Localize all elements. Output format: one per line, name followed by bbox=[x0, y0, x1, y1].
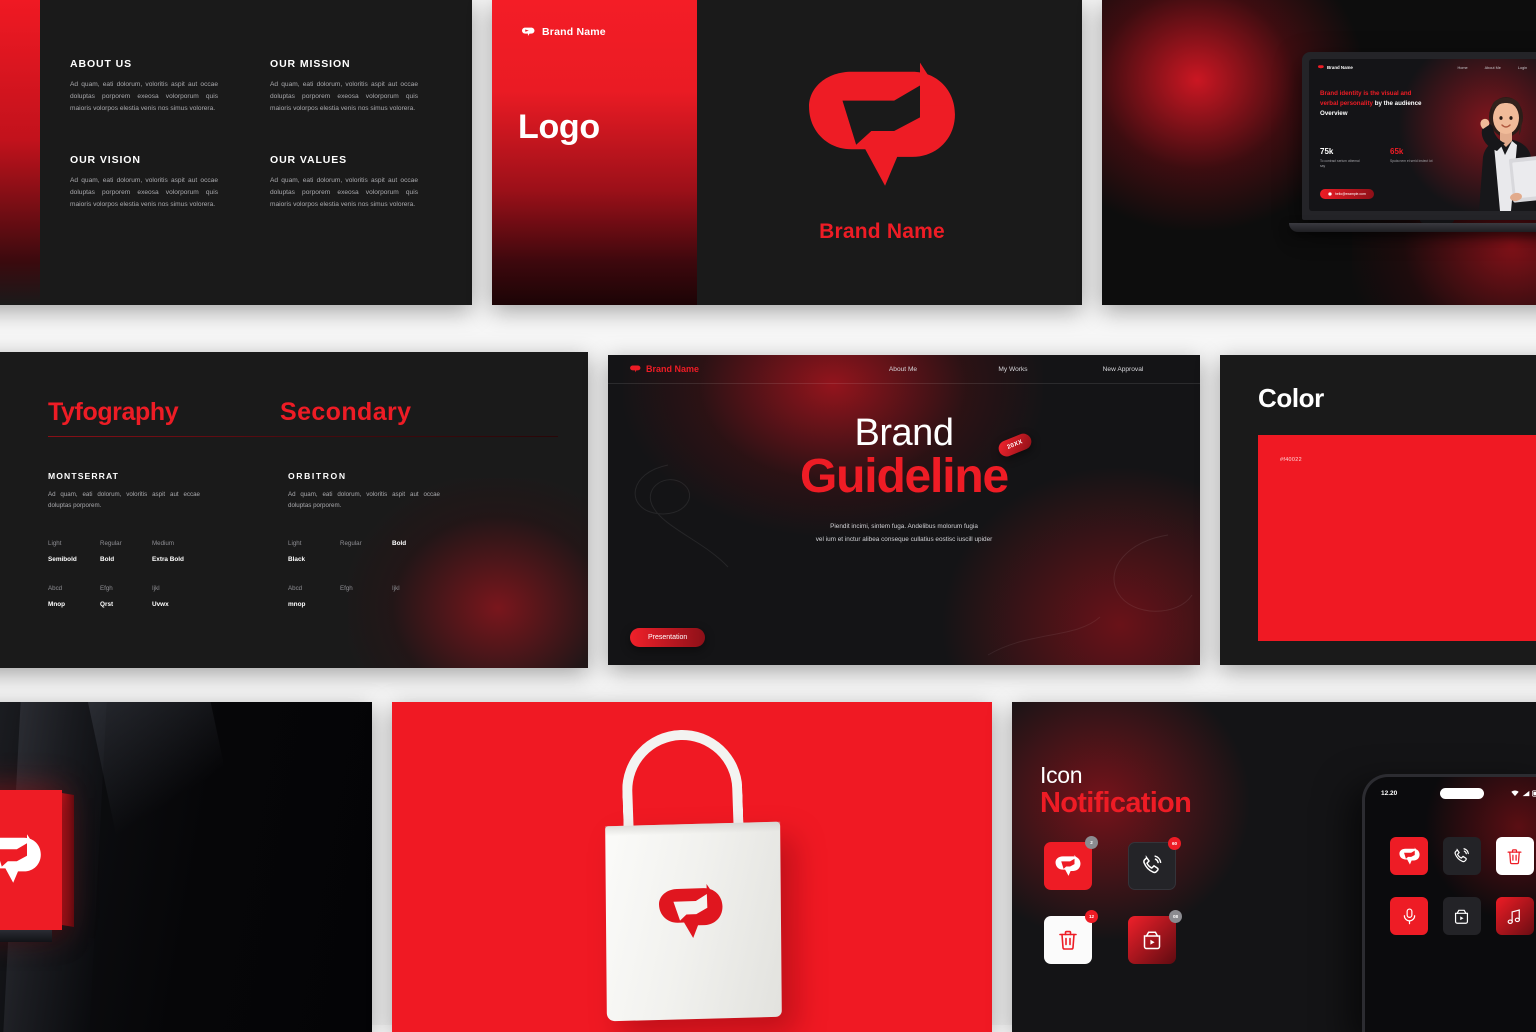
about-blocks-grid: ABOUT US Ad quam, eati dolorum, voloriti… bbox=[70, 58, 438, 211]
laptop-screen: Brand Name Home About Me Login Sign In B… bbox=[1309, 59, 1536, 211]
hero-nav-links: About Me My Works New Approval bbox=[848, 366, 1178, 373]
trash-delete-icon bbox=[1056, 928, 1080, 952]
notification-badge: 12 bbox=[1085, 910, 1098, 923]
font-alphabet-grid: Abcd Efgh Ijkl mnop bbox=[288, 585, 444, 608]
status-time: 12.20 bbox=[1381, 790, 1397, 797]
block-title: OUR VISION bbox=[70, 154, 238, 166]
font-weight: Bold bbox=[392, 540, 444, 547]
trash-delete-icon bbox=[1505, 847, 1524, 866]
font-weight: Semibold bbox=[48, 556, 100, 563]
laptop-device: Brand Name Home About Me Login Sign In B… bbox=[1302, 52, 1536, 232]
battery-icon bbox=[1532, 790, 1536, 797]
alphabet-sample: Abcd bbox=[288, 585, 340, 592]
hero-subtitle: Piendit incimi, sintem fuga. Andelibus m… bbox=[608, 521, 1200, 546]
notification-badge: 08 bbox=[1169, 910, 1182, 923]
color-hex-label: #f40022 bbox=[1280, 457, 1302, 463]
illuminated-sign-box bbox=[0, 790, 62, 930]
block-body: Ad quam, eati dolorum, voloritis aspit a… bbox=[70, 175, 218, 212]
hero-content: Brand Guideline 20XX Piendit incimi, sin… bbox=[608, 413, 1200, 546]
font-weight: Regular bbox=[340, 540, 392, 547]
dynamic-island bbox=[1440, 788, 1484, 799]
nav-link-about-me[interactable]: About Me bbox=[848, 366, 958, 373]
app-tile-brand[interactable] bbox=[1390, 837, 1428, 875]
brand-label: Brand Name bbox=[542, 26, 606, 38]
alphabet-sample: Abcd bbox=[48, 585, 100, 592]
block-title: ABOUT US bbox=[70, 58, 238, 70]
block-title: OUR MISSION bbox=[270, 58, 438, 70]
about-block: OUR MISSION Ad quam, eati dolorum, volor… bbox=[270, 58, 438, 116]
font-weight: Light bbox=[288, 540, 340, 547]
sign-side-panel bbox=[62, 793, 74, 927]
app-tile-music[interactable] bbox=[1496, 897, 1534, 935]
tote-handle bbox=[620, 728, 744, 836]
brand-arrow-chat-logo-icon bbox=[1399, 846, 1420, 867]
font-weight: Medium bbox=[152, 540, 204, 547]
microphone-icon bbox=[1400, 907, 1419, 926]
about-block: OUR VALUES Ad quam, eati dolorum, volori… bbox=[270, 154, 438, 212]
brand-arrow-chat-logo-icon bbox=[1055, 853, 1081, 879]
brand-lockup: Brand Name bbox=[522, 26, 606, 38]
hero-navbar: Brand Name About Me My Works New Approva… bbox=[608, 355, 1200, 384]
title-line2: Notification bbox=[1040, 787, 1191, 820]
presentation-button[interactable]: Presentation bbox=[630, 628, 705, 647]
icon-tile-video[interactable]: 08 bbox=[1128, 916, 1176, 964]
video-play-box-icon bbox=[1452, 907, 1471, 926]
title-line1: Icon bbox=[1040, 762, 1191, 789]
nav-link: Login bbox=[1518, 66, 1527, 70]
icon-tile-brand[interactable]: 2 bbox=[1044, 842, 1092, 890]
phone-status-bar: 12.20 bbox=[1365, 786, 1536, 800]
nav-link: About Me bbox=[1485, 66, 1501, 70]
music-note-icon bbox=[1505, 907, 1524, 926]
secondary-font-column: ORBITRON Ad quam, eati dolorum, voloriti… bbox=[288, 471, 444, 608]
slide-laptop-mockup[interactable]: Brand Name Home About Me Login Sign In B… bbox=[1102, 0, 1536, 305]
font-description: Ad quam, eati dolorum, voloritis aspit a… bbox=[288, 489, 440, 512]
slide-icon-notification[interactable]: Icon Notification 2 60 bbox=[1012, 702, 1536, 1032]
about-block: OUR VISION Ad quam, eati dolorum, volori… bbox=[70, 154, 238, 212]
block-body: Ad quam, eati dolorum, voloritis aspit a… bbox=[270, 175, 418, 212]
logo-mark-block: Brand Name bbox=[792, 52, 972, 244]
font-weight: Black bbox=[288, 556, 340, 563]
stat-item: 65k Sputa nem et serid instect lot bbox=[1390, 147, 1433, 170]
font-weight: Extra Bold bbox=[152, 556, 204, 563]
presenter-photo bbox=[1459, 85, 1536, 211]
slide-title: Color bbox=[1258, 383, 1324, 414]
primary-heading: Tyfography bbox=[48, 398, 280, 427]
sign-mount-bracket bbox=[0, 930, 52, 942]
alphabet-sample: Qrst bbox=[100, 601, 152, 608]
hero-brand-label: Brand Name bbox=[646, 364, 699, 374]
color-swatch: #f40022 bbox=[1258, 435, 1536, 641]
alphabet-sample: Efgh bbox=[100, 585, 152, 592]
alphabet-sample: Efgh bbox=[340, 585, 392, 592]
slide-about-us[interactable]: on ABOUT US Ad quam, eati dolorum, volor… bbox=[0, 0, 472, 305]
slide-logo[interactable]: Brand Name Logo Brand Name bbox=[492, 0, 1082, 305]
wifi-icon bbox=[1511, 790, 1519, 797]
phone-call-icon bbox=[1452, 847, 1471, 866]
app-tile-call[interactable] bbox=[1443, 837, 1481, 875]
status-indicators bbox=[1511, 790, 1536, 797]
website-stats: 75k To contract serium otbemal say 65k S… bbox=[1320, 147, 1433, 170]
secondary-heading: Secondary bbox=[280, 398, 411, 427]
font-name: ORBITRON bbox=[288, 471, 444, 481]
typography-headings: Tyfography Secondary bbox=[48, 398, 558, 427]
brand-arrow-chat-logo-icon bbox=[0, 830, 42, 890]
slide-signage-mockup[interactable] bbox=[0, 702, 372, 1032]
slide-brand-guideline-hero[interactable]: Brand Name About Me My Works New Approva… bbox=[608, 355, 1200, 665]
phone-app-grid bbox=[1365, 837, 1536, 935]
slide-title-block: Icon Notification bbox=[1040, 762, 1191, 820]
website-headline: Brand identity is the visual and verbal … bbox=[1320, 89, 1430, 118]
website-nav-links: Home About Me Login Sign In bbox=[1457, 66, 1536, 70]
slide-tote-bag-mockup[interactable] bbox=[392, 702, 992, 1032]
font-weight-grid: Light Regular Medium Semibold Bold Extra… bbox=[48, 540, 288, 563]
laptop-bezel: Brand Name Home About Me Login Sign In B… bbox=[1302, 52, 1536, 220]
font-weight-grid: Light Regular Bold Black bbox=[288, 540, 444, 563]
divider bbox=[48, 436, 558, 437]
website-brand-label: Brand Name bbox=[1327, 65, 1353, 70]
block-body: Ad quam, eati dolorum, voloritis aspit a… bbox=[70, 79, 218, 116]
font-weight: Light bbox=[48, 540, 100, 547]
slide-title: Logo bbox=[518, 108, 600, 147]
block-title: OUR VALUES bbox=[270, 154, 438, 166]
nav-link: Home bbox=[1457, 66, 1467, 70]
app-tile-delete[interactable] bbox=[1496, 837, 1534, 875]
phone-mockup: 12.20 bbox=[1362, 774, 1536, 1032]
brand-arrow-chat-logo-icon bbox=[630, 365, 641, 374]
hero-subtitle-line2: vel ium et inctur alibea conseque cullat… bbox=[608, 534, 1200, 546]
red-gradient-bar bbox=[0, 0, 40, 305]
primary-font-column: MONTSERRAT Ad quam, eati dolorum, volori… bbox=[48, 471, 288, 608]
stat-value: 75k bbox=[1320, 147, 1364, 156]
brand-arrow-chat-logo-icon bbox=[522, 27, 535, 38]
font-weight: Bold bbox=[100, 556, 152, 563]
signal-icon bbox=[1522, 790, 1530, 797]
brand-arrow-chat-logo-icon bbox=[657, 879, 725, 947]
stat-item: 75k To contract serium otbemal say bbox=[1320, 147, 1364, 170]
website-navbar: Brand Name Home About Me Login Sign In bbox=[1309, 59, 1536, 76]
font-description: Ad quam, eati dolorum, voloritis aspit a… bbox=[48, 489, 200, 512]
nav-link-my-works[interactable]: My Works bbox=[958, 366, 1068, 373]
video-play-box-icon bbox=[1140, 928, 1164, 952]
notification-badge: 60 bbox=[1168, 837, 1181, 850]
hero-title-line2-wrap: Guideline 20XX bbox=[800, 453, 1008, 501]
stat-caption: Sputa nem et serid instect lot bbox=[1390, 159, 1433, 164]
nav-link-new-approval[interactable]: New Approval bbox=[1068, 366, 1178, 373]
alphabet-sample: mnop bbox=[288, 601, 340, 608]
hero-title-line2: Guideline bbox=[800, 450, 1008, 503]
app-tile-microphone[interactable] bbox=[1390, 897, 1428, 935]
font-alphabet-grid: Abcd Efgh Ijkl Mnop Qrst Uvwx bbox=[48, 585, 288, 608]
hero-brand: Brand Name bbox=[630, 364, 699, 374]
hero-subtitle-line1: Piendit incimi, sintem fuga. Andelibus m… bbox=[608, 521, 1200, 533]
app-tile-video[interactable] bbox=[1443, 897, 1481, 935]
icon-tile-delete[interactable]: 12 bbox=[1044, 916, 1092, 964]
cta-label: hello@example.com bbox=[1335, 192, 1366, 196]
alphabet-sample: Mnop bbox=[48, 601, 100, 608]
website-cta-button: hello@example.com bbox=[1320, 189, 1374, 199]
font-weight: Regular bbox=[100, 540, 152, 547]
presentation-board: on ABOUT US Ad quam, eati dolorum, volor… bbox=[0, 0, 1536, 1025]
laptop-base bbox=[1289, 223, 1536, 232]
font-name: MONTSERRAT bbox=[48, 471, 288, 481]
icon-tile-call[interactable]: 60 bbox=[1128, 842, 1176, 890]
notification-icon-grid: 2 60 12 bbox=[1044, 842, 1208, 986]
about-block: ABOUT US Ad quam, eati dolorum, voloriti… bbox=[70, 58, 238, 116]
slide-color[interactable]: Color #f40022 bbox=[1220, 355, 1536, 665]
phone-call-icon bbox=[1140, 854, 1164, 878]
brand-arrow-chat-logo-icon bbox=[806, 52, 958, 204]
block-body: Ad quam, eati dolorum, voloritis aspit a… bbox=[270, 79, 418, 116]
logo-caption: Brand Name bbox=[819, 220, 945, 244]
website-brand: Brand Name bbox=[1318, 65, 1353, 70]
stat-caption: To contract serium otbemal say bbox=[1320, 159, 1364, 170]
stat-value: 65k bbox=[1390, 147, 1433, 156]
slide-typography[interactable]: Tyfography Secondary MONTSERRAT Ad quam,… bbox=[0, 352, 588, 668]
alphabet-sample: Ijkl bbox=[152, 585, 204, 592]
notification-badge: 2 bbox=[1085, 836, 1098, 849]
alphabet-sample: Uvwx bbox=[152, 601, 204, 608]
hero-title-line1: Brand bbox=[608, 413, 1200, 453]
alphabet-sample: Ijkl bbox=[392, 585, 444, 592]
red-gradient-pane bbox=[492, 0, 697, 305]
tote-bag bbox=[604, 730, 794, 1010]
